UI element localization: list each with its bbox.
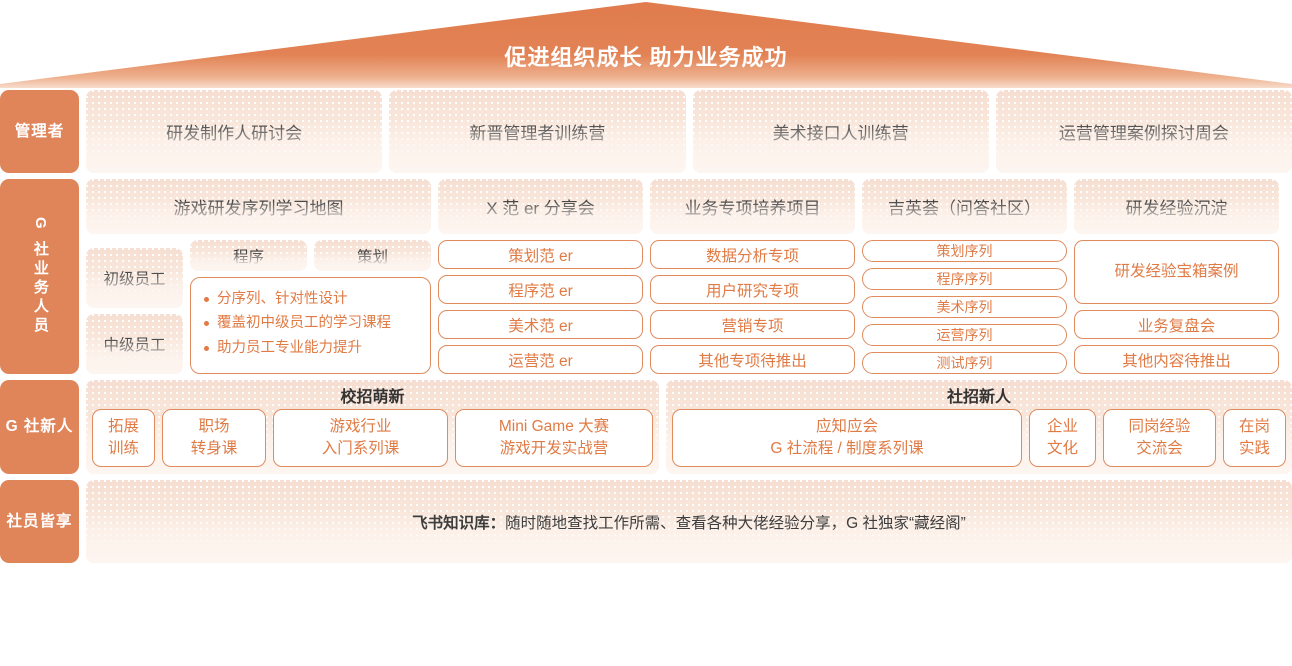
- qa-community-title: 吉英荟（问答社区）: [862, 179, 1067, 234]
- item-line2: 实践: [1239, 438, 1270, 460]
- item-line1: 企业: [1047, 416, 1078, 438]
- item-line2: 游戏开发实战营: [500, 438, 609, 460]
- fan-er-item[interactable]: 运营范 er: [438, 345, 643, 374]
- item-line2: 文化: [1047, 438, 1078, 460]
- campus-hire-title: 校招萌新: [86, 380, 659, 409]
- qa-sequence-item[interactable]: 运营序列: [862, 324, 1067, 346]
- social-hire-items: 应知应会 G 社流程 / 制度系列课 企业 文化 同岗经验 交流会 在岗 实践: [666, 409, 1292, 474]
- qa-sequence-item[interactable]: 策划序列: [862, 240, 1067, 262]
- manager-card[interactable]: 运营管理案例探讨周会: [996, 90, 1292, 173]
- item-line2: G 社流程 / 制度系列课: [770, 438, 923, 460]
- social-hire-item[interactable]: 应知应会 G 社流程 / 制度系列课: [672, 409, 1022, 467]
- row-business-staff: G 社业务人员 游戏研发序列学习地图 初级员工 中级员工 程序 策划: [0, 179, 1292, 374]
- row-all-employees: 社员皆享 飞书知识库：随时随地查找工作所需、查看各种大佬经验分享，G 社独家“藏…: [0, 480, 1292, 563]
- learning-map-body: 初级员工 中级员工 程序 策划 分序列、针对性设计 覆盖初中级员工的学习课程: [86, 240, 431, 374]
- campus-hire-items: 拓展 训练 职场 转身课 游戏行业 入门系列课 Mini Game 大赛 游戏开…: [86, 409, 659, 474]
- experience-item-more[interactable]: 其他内容待推出: [1074, 345, 1279, 374]
- roof-header: 促进组织成长 助力业务成功: [0, 0, 1292, 88]
- item-line1: Mini Game 大赛: [499, 416, 609, 438]
- tab-program[interactable]: 程序: [190, 240, 307, 271]
- qa-sequence-item[interactable]: 美术序列: [862, 296, 1067, 318]
- managers-cards: 研发制作人研讨会 新晋管理者训练营 美术接口人训练营 运营管理案例探讨周会: [86, 90, 1292, 173]
- item-line2: 训练: [108, 438, 139, 460]
- qa-sequence-item[interactable]: 测试序列: [862, 352, 1067, 374]
- item-line2: 交流会: [1136, 438, 1183, 460]
- column-learning-map: 游戏研发序列学习地图 初级员工 中级员工 程序 策划 分序列、针对性设计: [86, 179, 431, 374]
- manager-card[interactable]: 新晋管理者训练营: [389, 90, 685, 173]
- level-item-intermediate[interactable]: 中级员工: [86, 314, 183, 374]
- manager-card[interactable]: 美术接口人训练营: [693, 90, 989, 173]
- rail-label-newcomers: G 社新人: [0, 380, 79, 474]
- column-fan-er: X 范 er 分享会 策划范 er 程序范 er 美术范 er 运营范 er: [438, 179, 643, 374]
- group-social-hire: 社招新人 应知应会 G 社流程 / 制度系列课 企业 文化 同岗经验 交流会: [666, 380, 1292, 474]
- group-campus-hire: 校招萌新 拓展 训练 职场 转身课 游戏行业 入门系列课 M: [86, 380, 659, 474]
- item-line1: 拓展: [108, 416, 139, 438]
- campus-hire-item[interactable]: Mini Game 大赛 游戏开发实战营: [455, 409, 653, 467]
- social-hire-item[interactable]: 在岗 实践: [1223, 409, 1286, 467]
- knowledge-base-banner[interactable]: 飞书知识库：随时随地查找工作所需、查看各种大佬经验分享，G 社独家“藏经阁”: [86, 480, 1292, 563]
- special-programs-title: 业务专项培养项目: [650, 179, 855, 234]
- fan-er-item[interactable]: 美术范 er: [438, 310, 643, 339]
- item-line1: 在岗: [1239, 416, 1270, 438]
- column-experience: 研发经验沉淀 研发经验 宝箱案例 业务复盘会 其他内容待推出: [1074, 179, 1279, 374]
- campus-hire-item[interactable]: 拓展 训练: [92, 409, 155, 467]
- newcomer-groups: 校招萌新 拓展 训练 职场 转身课 游戏行业 入门系列课 M: [86, 380, 1292, 474]
- special-program-item[interactable]: 用户研究专项: [650, 275, 855, 304]
- item-line2: 转身课: [191, 438, 238, 460]
- fan-er-title: X 范 er 分享会: [438, 179, 643, 234]
- campus-hire-item[interactable]: 游戏行业 入门系列课: [273, 409, 448, 467]
- item-line1: 职场: [198, 416, 229, 438]
- qa-sequence-item[interactable]: 程序序列: [862, 268, 1067, 290]
- row-managers: 管理者 研发制作人研讨会 新晋管理者训练营 美术接口人训练营 运营管理案例探讨周…: [0, 90, 1292, 173]
- experience-title: 研发经验沉淀: [1074, 179, 1279, 234]
- learning-map-detail: 程序 策划 分序列、针对性设计 覆盖初中级员工的学习课程 助力员工专业能力提升: [190, 240, 431, 374]
- rail-label-all-employees: 社员皆享: [0, 480, 79, 563]
- column-qa-community: 吉英荟（问答社区） 策划序列 程序序列 美术序列 运营序列 测试序列: [862, 179, 1067, 374]
- knowledge-base-label: 飞书知识库：: [412, 511, 505, 533]
- bullet-item: 覆盖初中级员工的学习课程: [217, 311, 418, 335]
- level-list: 初级员工 中级员工: [86, 240, 183, 374]
- level-item-junior[interactable]: 初级员工: [86, 248, 183, 308]
- manager-card[interactable]: 研发制作人研讨会: [86, 90, 382, 173]
- knowledge-base-text: 随时随地查找工作所需、查看各种大佬经验分享，G 社独家“藏经阁”: [505, 511, 966, 533]
- campus-hire-item[interactable]: 职场 转身课: [162, 409, 266, 467]
- learning-map-title: 游戏研发序列学习地图: [86, 179, 431, 234]
- social-hire-item[interactable]: 企业 文化: [1029, 409, 1096, 467]
- item-line1: 应知应会: [816, 416, 878, 438]
- bullet-item: 分序列、针对性设计: [217, 287, 418, 311]
- social-hire-title: 社招新人: [666, 380, 1292, 409]
- experience-item-treasure[interactable]: 研发经验 宝箱案例: [1074, 240, 1279, 304]
- fan-er-item[interactable]: 程序范 er: [438, 275, 643, 304]
- fan-er-item[interactable]: 策划范 er: [438, 240, 643, 269]
- experience-item-line1: 研发经验: [1114, 260, 1176, 284]
- item-line2: 入门系列课: [322, 438, 400, 460]
- business-columns: 游戏研发序列学习地图 初级员工 中级员工 程序 策划 分序列、针对性设计: [86, 179, 1292, 374]
- special-program-item[interactable]: 其他专项待推出: [650, 345, 855, 374]
- row-newcomers: G 社新人 校招萌新 拓展 训练 职场 转身课 游戏行业 入门系列课: [0, 380, 1292, 474]
- framework-board: 管理者 研发制作人研讨会 新晋管理者训练营 美术接口人训练营 运营管理案例探讨周…: [0, 90, 1292, 563]
- bullet-item: 助力员工专业能力提升: [217, 336, 418, 360]
- social-hire-item[interactable]: 同岗经验 交流会: [1103, 409, 1216, 467]
- column-special-programs: 业务专项培养项目 数据分析专项 用户研究专项 营销专项 其他专项待推出: [650, 179, 855, 374]
- item-line1: 同岗经验: [1128, 416, 1190, 438]
- discipline-tabs: 程序 策划: [190, 240, 431, 271]
- special-program-item[interactable]: 数据分析专项: [650, 240, 855, 269]
- experience-item-line2: 宝箱案例: [1177, 260, 1239, 284]
- learning-map-bullets: 分序列、针对性设计 覆盖初中级员工的学习课程 助力员工专业能力提升: [190, 277, 431, 374]
- knowledge-base-banner-wrap: 飞书知识库：随时随地查找工作所需、查看各种大佬经验分享，G 社独家“藏经阁”: [86, 480, 1292, 563]
- rail-label-managers: 管理者: [0, 90, 79, 173]
- page-title: 促进组织成长 助力业务成功: [0, 40, 1292, 72]
- experience-item-review[interactable]: 业务复盘会: [1074, 310, 1279, 339]
- rail-label-business-staff: G 社业务人员: [0, 179, 79, 374]
- tab-design[interactable]: 策划: [314, 240, 431, 271]
- item-line1: 游戏行业: [329, 416, 391, 438]
- special-program-item[interactable]: 营销专项: [650, 310, 855, 339]
